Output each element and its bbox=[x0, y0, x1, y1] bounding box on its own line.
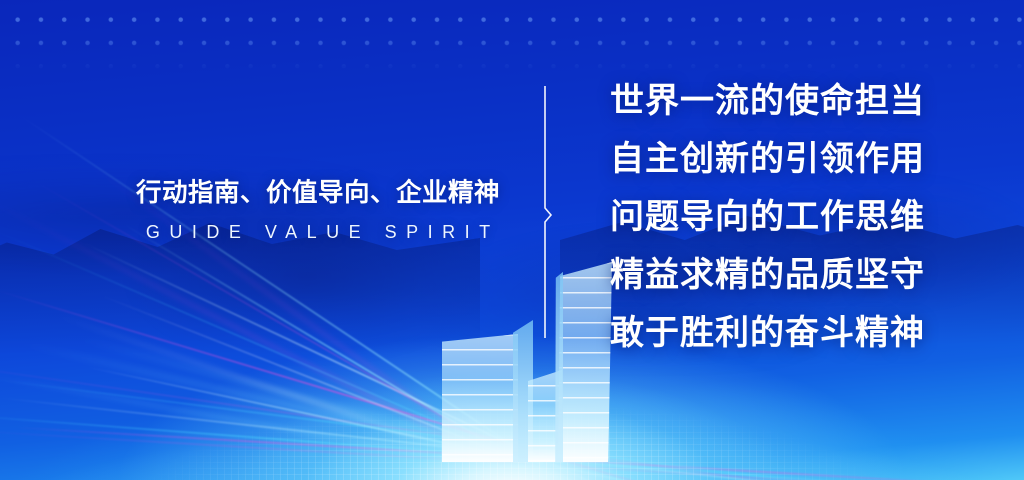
building-tall bbox=[558, 262, 612, 462]
building-middle bbox=[528, 370, 562, 462]
light-ray bbox=[0, 359, 512, 446]
light-ray bbox=[512, 453, 1024, 480]
light-ray bbox=[512, 444, 1024, 480]
corporate-culture-banner: 行动指南、价值导向、企业精神 GUIDE VALUE SPIRIT 世界一流的使… bbox=[0, 0, 1024, 480]
light-ray bbox=[0, 413, 512, 458]
glow-arc-left-3 bbox=[0, 38, 530, 480]
light-ray bbox=[81, 241, 512, 446]
light-ray bbox=[511, 451, 949, 480]
light-ray bbox=[0, 430, 512, 464]
building-tall-face bbox=[558, 262, 612, 462]
glow-arc-left-2-magenta bbox=[0, 50, 520, 480]
light-ray bbox=[511, 468, 949, 480]
light-ray bbox=[512, 456, 1009, 480]
light-ray bbox=[19, 114, 513, 446]
left-text-block: 行动指南、价值导向、企业精神 GUIDE VALUE SPIRIT bbox=[118, 178, 518, 243]
light-ray bbox=[511, 444, 1005, 480]
light-ray bbox=[53, 314, 512, 470]
left-subtitle-english: GUIDE VALUE SPIRIT bbox=[118, 222, 518, 243]
right-slogan-block: 世界一流的使命担当 自主创新的引领作用 问题导向的工作思维 精益求精的品质坚守 … bbox=[610, 72, 1010, 362]
building-tall-floorlines bbox=[558, 262, 612, 462]
light-ray bbox=[512, 456, 999, 480]
light-ray bbox=[512, 456, 926, 480]
light-ray bbox=[511, 456, 901, 480]
light-ray bbox=[512, 444, 1024, 480]
building-left-floorlines bbox=[442, 334, 518, 462]
building-left-side-face bbox=[513, 320, 533, 462]
left-title-chinese: 行动指南、价值导向、企业精神 bbox=[118, 178, 518, 209]
slogan-line-4: 精益求精的品质坚守 bbox=[610, 246, 1010, 304]
light-ray bbox=[15, 426, 512, 458]
light-ray bbox=[0, 378, 512, 446]
light-ray bbox=[512, 468, 1024, 480]
dot-matrix-pattern bbox=[0, 0, 1024, 72]
light-ray bbox=[86, 366, 512, 458]
light-ray bbox=[98, 294, 512, 458]
light-ray bbox=[512, 468, 1024, 480]
light-ray bbox=[512, 453, 1024, 480]
light-ray bbox=[512, 454, 1007, 480]
perspective-grid-floor bbox=[0, 384, 1024, 480]
light-ray bbox=[17, 341, 512, 458]
light-ray bbox=[123, 223, 513, 458]
building-left-face bbox=[442, 334, 518, 462]
building-middle-floorlines bbox=[528, 370, 562, 462]
slogan-line-1: 世界一流的使命担当 bbox=[610, 72, 1010, 130]
slogan-line-5: 敢于胜利的奋斗精神 bbox=[610, 304, 1010, 362]
light-ray bbox=[512, 456, 938, 480]
light-ray bbox=[74, 336, 512, 455]
chevron-right-marker-icon bbox=[538, 86, 554, 338]
light-ray bbox=[0, 373, 512, 470]
building-left bbox=[442, 334, 518, 462]
building-left-side bbox=[513, 320, 533, 462]
light-ray bbox=[512, 444, 943, 480]
light-ray bbox=[512, 444, 1024, 480]
vertical-divider bbox=[538, 86, 554, 338]
light-ray bbox=[512, 462, 1024, 480]
light-ray bbox=[512, 456, 1024, 480]
light-ray bbox=[512, 468, 971, 480]
light-ray bbox=[0, 228, 512, 455]
light-ray bbox=[0, 289, 512, 446]
building-middle-face bbox=[528, 370, 562, 462]
slogan-line-3: 问题导向的工作思维 bbox=[610, 188, 1010, 246]
slogan-line-2: 自主创新的引领作用 bbox=[610, 130, 1010, 188]
light-ray bbox=[0, 397, 512, 455]
